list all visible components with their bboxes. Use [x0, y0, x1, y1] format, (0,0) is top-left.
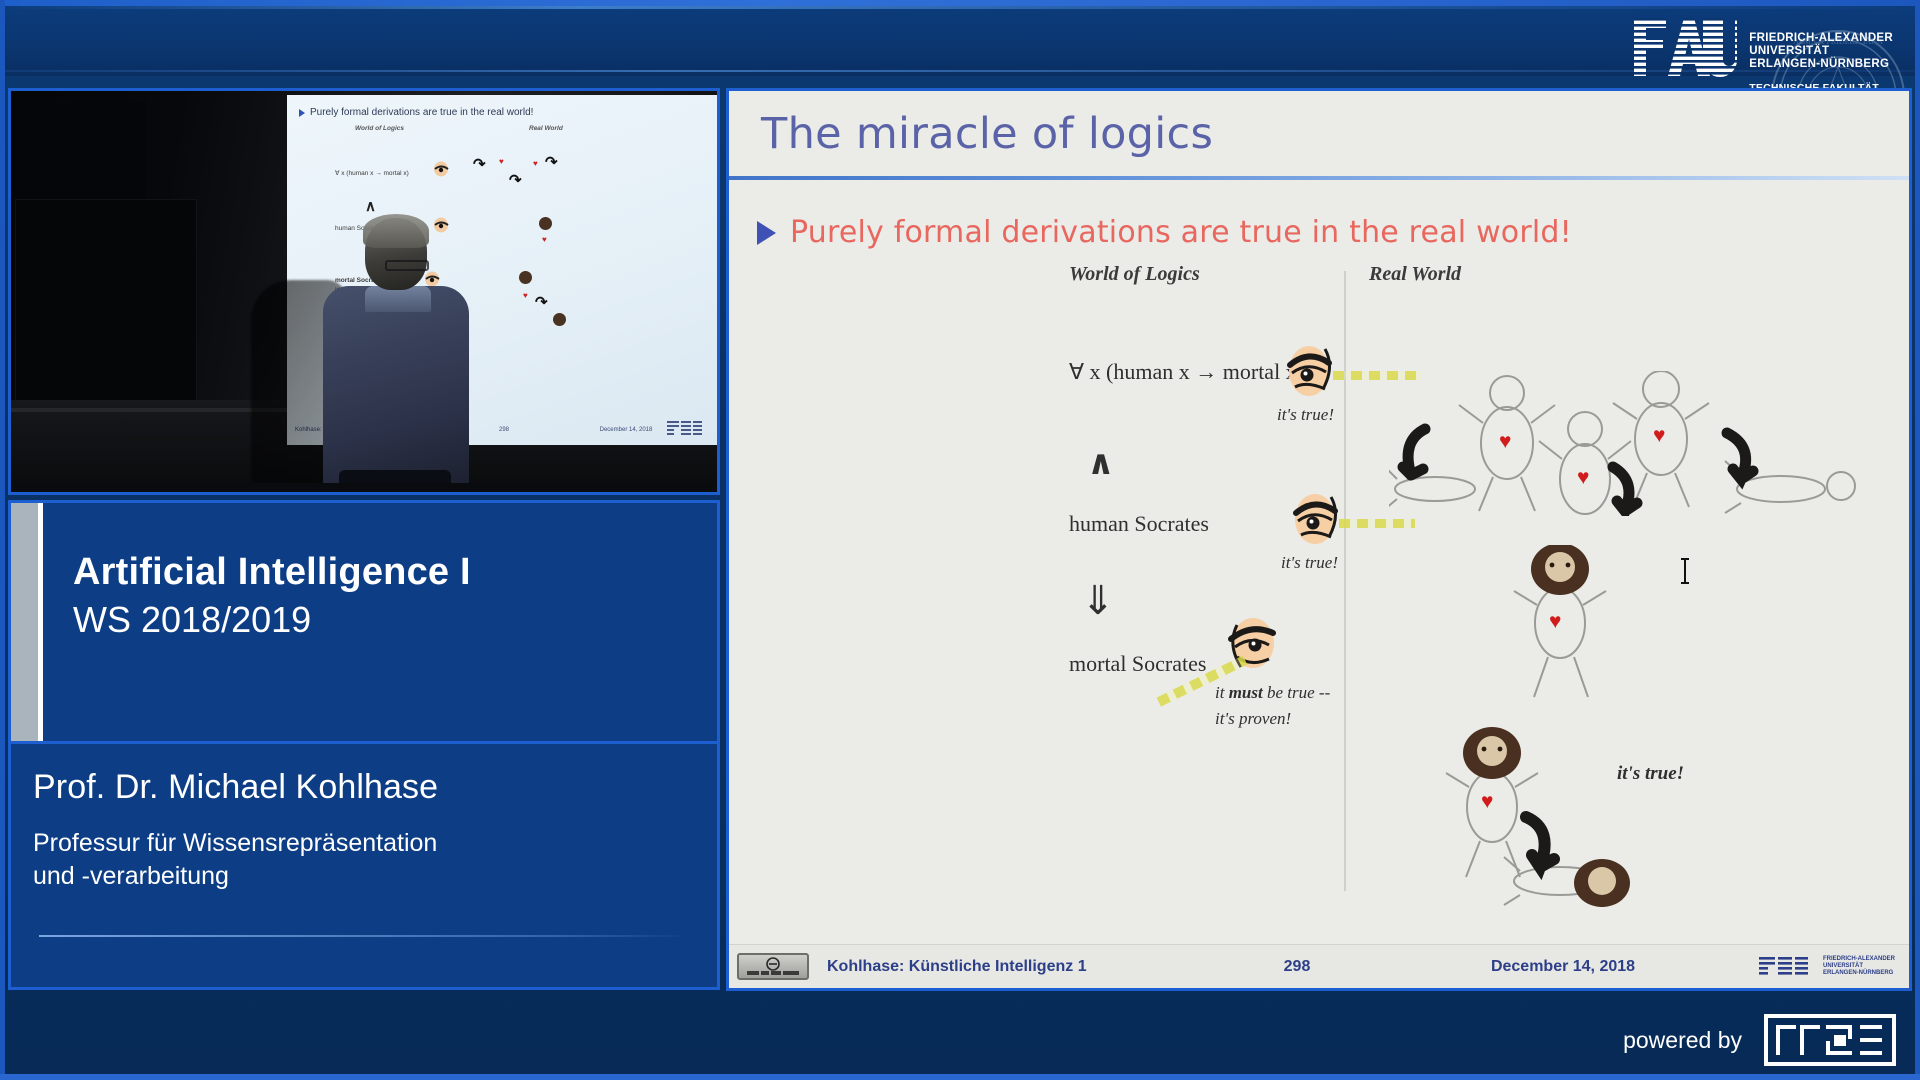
video-bottom-strip — [11, 483, 717, 493]
lecturer — [303, 202, 469, 492]
header-sheen — [5, 6, 1915, 9]
lecturer-body — [323, 286, 469, 495]
slide-bullet-text: Purely formal derivations are true in th… — [790, 215, 1572, 250]
mini-arrow-2: ↷ — [509, 171, 522, 189]
mini-column-left-label: World of Logics — [355, 125, 404, 132]
window-bottom-edge — [0, 1074, 1920, 1080]
eye-label-3-bold: must — [1229, 683, 1263, 702]
heart-icon-5: ♥ — [1481, 791, 1493, 812]
socrates-alive-figure — [1504, 545, 1624, 710]
course-title: Artificial Intelligence I — [73, 551, 471, 594]
slide-footer-author: Kohlhase: Künstliche Intelligenz 1 — [827, 958, 1207, 976]
slide-bullet-row: Purely formal derivations are true in th… — [757, 215, 1572, 250]
formula-universal: ∀ x (human x → mortal x) — [1069, 359, 1304, 385]
mini-eye-icon-1 — [433, 161, 451, 177]
presenter-name: Prof. Dr. Michael Kohlhase — [33, 768, 689, 807]
mini-socrates-head-2 — [519, 271, 532, 284]
eye-label-3-pre: it — [1215, 683, 1229, 702]
powered-by-block: powered by — [1623, 1014, 1896, 1066]
window-right-edge — [1915, 0, 1920, 1080]
slide-footer-fau-line-3: ERLANGEN-NÜRNBERG — [1823, 970, 1895, 977]
formula-human-socrates: human Socrates — [1069, 511, 1209, 537]
mini-heart-2: ♥ — [533, 159, 538, 168]
presenter-panel: Prof. Dr. Michael Kohlhase Professur für… — [8, 744, 720, 990]
lecturer-hair — [363, 214, 429, 248]
eye-icon-1 — [1285, 343, 1337, 399]
course-term: WS 2018/2019 — [73, 598, 471, 641]
mini-heart-3: ♥ — [542, 235, 547, 244]
mini-column-right-label: Real World — [529, 125, 563, 132]
fau-line-1: FRIEDRICH-ALEXANDER — [1749, 32, 1893, 45]
mini-arrow-3: ↷ — [545, 153, 558, 171]
socrates-head-3 — [1574, 859, 1630, 907]
heart-icon-1: ♥ — [1499, 431, 1511, 452]
video-frame: Purely formal derivations are true in th… — [11, 91, 717, 492]
mini-bullet-row: Purely formal derivations are true in th… — [299, 107, 533, 118]
fau-logo: FRIEDRICH-ALEXANDER UNIVERSITÄT ERLANGEN… — [1632, 16, 1893, 95]
socrates-head-2 — [1463, 727, 1521, 779]
mini-footer-page: 298 — [467, 427, 541, 433]
mini-socrates-head-1 — [539, 217, 552, 230]
mouse-cursor-ibeam — [1679, 557, 1691, 585]
fau-line-2: UNIVERSITÄT — [1749, 45, 1893, 58]
eye-label-3-line-2: it's proven! — [1215, 709, 1291, 729]
formula-implication: ⇓ — [1081, 581, 1115, 621]
slide-footer-fau-line-2: UNIVERSITÄT — [1823, 963, 1895, 970]
formula-conjunction: ∧ — [1087, 443, 1115, 483]
presenter-affiliation-line-1: Professur für Wissensrepräsentation — [33, 827, 689, 860]
heart-icon-4: ♥ — [1549, 611, 1561, 632]
column-header-real-world: Real World — [1369, 263, 1461, 286]
lecturer-glasses — [385, 260, 429, 271]
bullet-triangle-icon — [757, 221, 776, 245]
column-divider — [1344, 271, 1346, 891]
mini-arrow-4: ↷ — [535, 293, 548, 311]
eye-icon-2 — [1291, 491, 1343, 547]
fau-line-3: ERLANGEN-NÜRNBERG — [1749, 58, 1893, 71]
mini-formula-1: ∀ x (human x → mortal x) — [335, 169, 409, 177]
socrates-head-1 — [1531, 545, 1589, 595]
presenter-affiliation: Professur für Wissensrepräsentation und … — [33, 827, 689, 892]
slide-title: The miracle of logics — [761, 109, 1213, 159]
app-root: FRIEDRICH-ALEXANDER UNIVERSITÄT ERLANGEN… — [0, 0, 1920, 1080]
logic-diagram: World of Logics Real World ∀ x (human x … — [729, 263, 1909, 953]
mini-socrates-head-3 — [553, 313, 566, 326]
slide-footer-page-number: 298 — [1207, 958, 1387, 976]
eye-label-2: it's true! — [1281, 553, 1338, 573]
fau-wordmark: FRIEDRICH-ALEXANDER UNIVERSITÄT ERLANGEN… — [1749, 16, 1893, 95]
creative-commons-badge-icon — [737, 953, 809, 980]
window-left-edge — [0, 0, 5, 1080]
header-bar: FRIEDRICH-ALEXANDER UNIVERSITÄT ERLANGEN… — [5, 6, 1915, 76]
course-title-text: Artificial Intelligence I WS 2018/2019 — [43, 503, 471, 741]
fau-mark-icon — [1632, 16, 1740, 78]
slide-viewer[interactable]: The miracle of logics Purely formal deri… — [726, 88, 1912, 991]
mini-bullet-text: Purely formal derivations are true in th… — [310, 107, 533, 118]
stick-figure-group-top — [1389, 371, 1869, 521]
mini-heart-1: ♥ — [499, 157, 504, 166]
slide-footer-fau-line-1: FRIEDRICH-ALEXANDER — [1823, 956, 1895, 963]
rrze-logo-icon[interactable] — [1764, 1014, 1896, 1066]
mini-arrow-1: ↷ — [473, 155, 486, 173]
eye-label-3-line-1: it must be true -- — [1215, 683, 1330, 703]
heart-icon-2: ♥ — [1577, 467, 1589, 488]
slide-footer-fau-mark-icon — [1759, 955, 1817, 979]
eye-label-3-post: be true -- — [1263, 683, 1331, 702]
title-accent-bar — [11, 503, 43, 741]
eye-label-1: it's true! — [1277, 405, 1334, 425]
mini-fau-logo-icon — [667, 419, 713, 437]
slide-title-underline — [729, 176, 1909, 180]
heart-icon-3: ♥ — [1653, 425, 1665, 446]
slide-surface: The miracle of logics Purely formal deri… — [729, 91, 1909, 988]
presenter-affiliation-line-2: und -verarbeitung — [33, 860, 689, 893]
real-world-true-label: it's true! — [1617, 763, 1684, 785]
slide-footer: Kohlhase: Künstliche Intelligenz 1 298 D… — [729, 944, 1909, 988]
course-title-panel: Artificial Intelligence I WS 2018/2019 — [8, 500, 720, 744]
mini-heart-4: ♥ — [523, 291, 528, 300]
presenter-divider — [39, 935, 689, 937]
column-header-world-of-logics: World of Logics — [1069, 263, 1200, 286]
powered-by-label: powered by — [1623, 1027, 1742, 1054]
mini-bullet-triangle-icon — [299, 109, 305, 117]
wall-panel-dark — [11, 101, 146, 201]
formula-mortal-socrates: mortal Socrates — [1069, 651, 1206, 677]
header-baseline — [5, 70, 1915, 72]
slide-footer-date: December 14, 2018 — [1387, 958, 1739, 976]
lecture-video-player[interactable]: Purely formal derivations are true in th… — [8, 88, 720, 495]
socrates-dying-group — [1434, 725, 1754, 920]
slide-footer-fau-logo: FRIEDRICH-ALEXANDER UNIVERSITÄT ERLANGEN… — [1739, 955, 1909, 979]
slide-footer-fau-wordmark: FRIEDRICH-ALEXANDER UNIVERSITÄT ERLANGEN… — [1823, 956, 1895, 977]
